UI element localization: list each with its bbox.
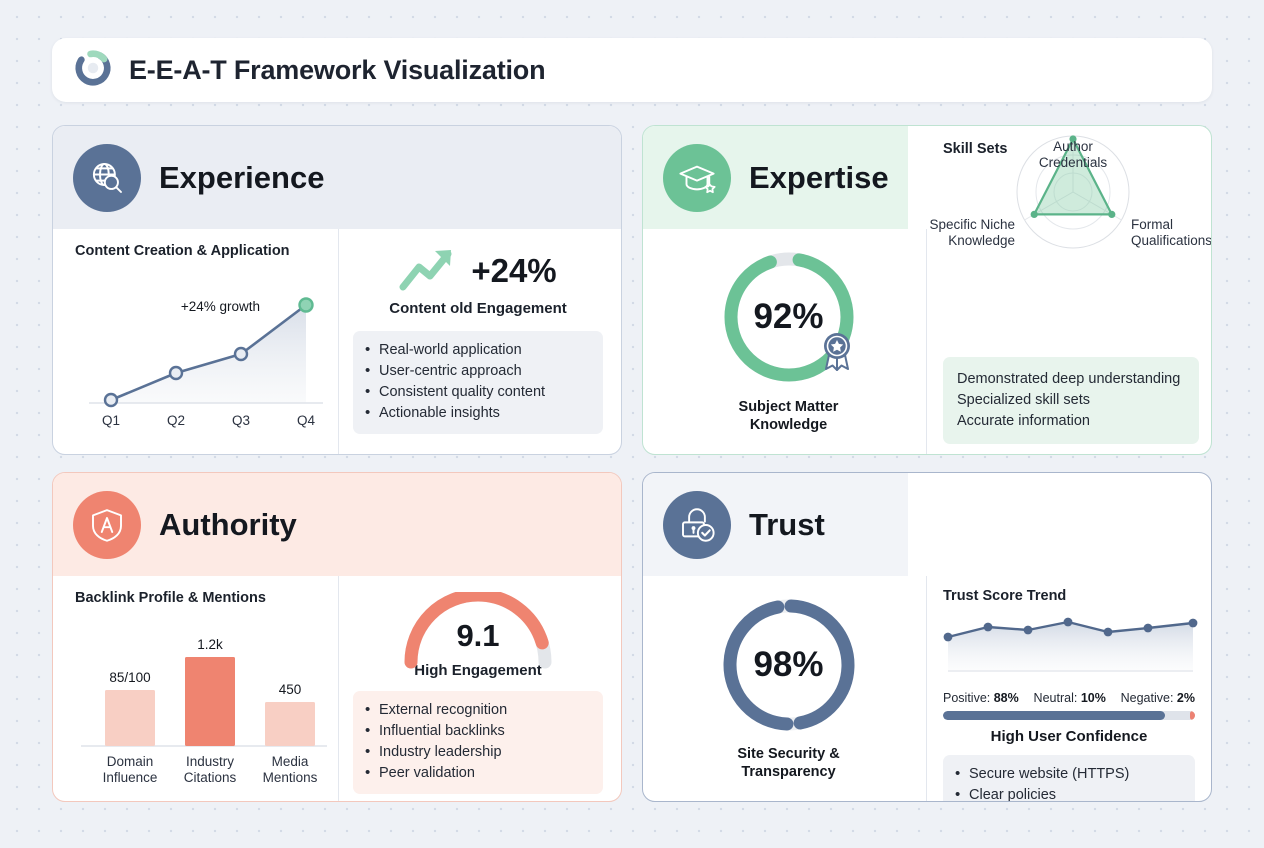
bar-label-media-1: Media — [272, 754, 309, 769]
radar-label-right-line2: Qualifications — [1131, 233, 1212, 248]
list-item: Consistent quality content — [363, 382, 591, 403]
list-item: User-centric approach — [363, 361, 591, 382]
list-item: External recognition — [363, 700, 591, 721]
expertise-note: Accurate information — [957, 411, 1185, 432]
bar-value-industry: 1.2k — [197, 637, 223, 652]
bar-label-industry-1: Industry — [186, 754, 234, 769]
authority-bullet-box: External recognition Influential backlin… — [353, 691, 603, 794]
experience-bullet-box: Real-world application User-centric appr… — [353, 331, 603, 434]
graduation-cap-star-icon — [663, 144, 731, 212]
bar-label-media-2: Mentions — [263, 770, 318, 785]
panel-trust-title: Trust — [749, 507, 825, 543]
experience-metric-value: +24% — [471, 252, 556, 290]
sentiment-neutral-value: 10% — [1081, 691, 1106, 705]
expertise-caption-line1: Subject Matter — [739, 398, 839, 416]
expertise-notes-box: Demonstrated deep understanding Speciali… — [943, 357, 1199, 444]
app-header: E-E-A-T Framework Visualization — [52, 38, 1212, 102]
sentiment-neutral: Neutral: 10% — [1034, 691, 1106, 705]
experience-chart-area: Content Creation & Application +24% grow… — [53, 229, 338, 455]
radar-label-top-line1: Author — [1053, 139, 1093, 154]
authority-chart-title: Backlink Profile & Mentions — [75, 590, 324, 606]
lock-check-icon — [663, 491, 731, 559]
globe-search-icon — [73, 144, 141, 212]
expertise-gauge-value: 92% — [753, 297, 823, 337]
trust-caption-line1: Site Security & — [737, 745, 839, 763]
award-ribbon-icon — [818, 331, 856, 376]
radar-label-left-line1: Specific Niche — [929, 217, 1015, 232]
sentiment-negative: Negative: 2% — [1121, 691, 1195, 705]
x-tick-q2: Q2 — [167, 413, 185, 428]
panel-trust-body: 98% Site Security & Transparency Trust S… — [643, 576, 1211, 802]
panel-expertise-title: Expertise — [749, 160, 889, 196]
sentiment-bar-positive — [943, 711, 1165, 720]
experience-metric-area: +24% Content old Engagement Real-world a… — [338, 229, 621, 455]
panel-authority-header: Authority — [53, 473, 621, 576]
panel-trust-header: Trust — [643, 473, 908, 576]
experience-line-chart[interactable]: +24% growth Q1 Q2 Q3 Q4 — [75, 263, 333, 443]
expertise-caption-line2: Knowledge — [739, 416, 839, 434]
panel-expertise-body: 92% Subject Matter Knowledge Ski — [643, 229, 1211, 455]
sentiment-negative-value: 2% — [1177, 691, 1195, 705]
trust-sentiment-legend: Positive: 88% Neutral: 10% Negative: 2% — [943, 691, 1195, 705]
bar-label-industry-2: Citations — [184, 770, 237, 785]
sentiment-negative-label: Negative: — [1121, 691, 1174, 705]
trust-gauge[interactable]: 98% — [713, 589, 865, 741]
x-tick-q3: Q3 — [232, 413, 250, 428]
panel-experience[interactable]: Experience Content Creation & Applicatio… — [52, 125, 622, 455]
list-item: Real-world application — [363, 340, 591, 361]
panel-authority[interactable]: Authority Backlink Profile & Mentions 85… — [52, 472, 622, 802]
authority-bar-chart[interactable]: 85/100 1.2k 450 Domain Influence Industr… — [75, 610, 337, 796]
sentiment-positive-label: Positive: — [943, 691, 990, 705]
radar-label-right-line1: Formal — [1131, 217, 1173, 232]
experience-metric-caption: Content old Engagement — [353, 300, 603, 317]
authority-chart-area: Backlink Profile & Mentions 85/100 1.2k … — [53, 576, 338, 802]
sentiment-positive: Positive: 88% — [943, 691, 1019, 705]
panel-experience-body: Content Creation & Application +24% grow… — [53, 229, 621, 455]
authority-gauge[interactable]: 9.1 — [393, 592, 563, 660]
authority-gauge-area: 9.1 High Engagement External recognition… — [338, 576, 621, 802]
expertise-radar-area: Skill Sets Author Credentials Formal — [926, 229, 1211, 455]
bar-label-domain-2: Influence — [103, 770, 158, 785]
expertise-gauge-caption: Subject Matter Knowledge — [739, 398, 839, 434]
trust-trend-chart[interactable] — [943, 610, 1201, 678]
trust-trend-title: Trust Score Trend — [943, 588, 1195, 604]
radar-label-left-line2: Knowledge — [948, 233, 1015, 248]
experience-bullet-list: Real-world application User-centric appr… — [363, 340, 591, 424]
panel-experience-title: Experience — [159, 160, 324, 196]
expertise-note: Specialized skill sets — [957, 390, 1185, 411]
list-item: Influential backlinks — [363, 721, 591, 742]
expertise-gauge[interactable]: 92% — [714, 242, 864, 392]
panel-expertise-header: Expertise — [643, 126, 908, 229]
page-title: E-E-A-T Framework Visualization — [129, 55, 545, 86]
expertise-radar-chart[interactable]: Author Credentials Formal Qualifications… — [927, 125, 1212, 351]
experience-chart-title: Content Creation & Application — [75, 243, 324, 259]
list-item: Clear policies — [953, 785, 1183, 802]
sentiment-neutral-label: Neutral: — [1034, 691, 1078, 705]
x-tick-q4: Q4 — [297, 413, 316, 428]
panel-authority-title: Authority — [159, 507, 297, 543]
panel-experience-header: Experience — [53, 126, 621, 229]
trust-gauge-area: 98% Site Security & Transparency — [643, 576, 926, 802]
trust-bullet-box: Secure website (HTTPS) Clear policies Po… — [943, 755, 1195, 802]
authority-gauge-value: 9.1 — [456, 618, 499, 653]
authority-bullet-list: External recognition Influential backlin… — [363, 700, 591, 784]
trust-confidence-caption: High User Confidence — [943, 728, 1195, 745]
trust-sentiment-bar[interactable] — [943, 711, 1195, 720]
expertise-note: Demonstrated deep understanding — [957, 369, 1185, 390]
shield-a-icon — [73, 491, 141, 559]
panel-authority-body: Backlink Profile & Mentions 85/100 1.2k … — [53, 576, 621, 802]
trust-caption-line2: Transparency — [737, 763, 839, 781]
bar-label-domain-1: Domain — [107, 754, 154, 769]
radar-label-top-line2: Credentials — [1039, 155, 1108, 170]
list-item: Secure website (HTTPS) — [953, 764, 1183, 785]
panel-expertise[interactable]: Expertise 92% — [642, 125, 1212, 455]
sentiment-positive-value: 88% — [994, 691, 1019, 705]
trending-up-arrow-icon — [399, 245, 461, 296]
trust-bullet-list: Secure website (HTTPS) Clear policies Po… — [953, 764, 1183, 802]
circular-progress-logo-icon — [74, 49, 112, 92]
bar-value-media: 450 — [279, 682, 302, 697]
panel-trust[interactable]: Trust 98% Site Security & Transparency T… — [642, 472, 1212, 802]
trust-gauge-caption: Site Security & Transparency — [737, 745, 839, 781]
trust-trend-area: Trust Score Trend — [926, 576, 1211, 802]
experience-growth-annotation: +24% growth — [181, 299, 260, 314]
trust-gauge-value: 98% — [753, 645, 823, 685]
list-item: Peer validation — [363, 763, 591, 784]
expertise-gauge-area: 92% Subject Matter Knowledge — [643, 229, 926, 455]
expertise-radar-title: Skill Sets — [943, 141, 1007, 157]
bar-value-domain: 85/100 — [109, 670, 150, 685]
list-item: Actionable insights — [363, 403, 591, 424]
list-item: Industry leadership — [363, 742, 591, 763]
x-tick-q1: Q1 — [102, 413, 120, 428]
sentiment-bar-negative — [1190, 711, 1195, 720]
